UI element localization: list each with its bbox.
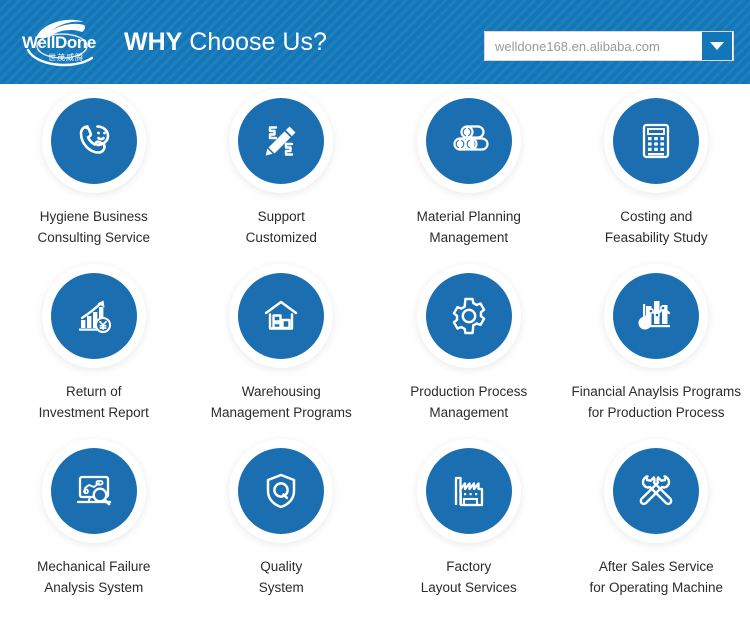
- calculator-icon: [632, 117, 680, 165]
- service-icon-badge: [426, 448, 512, 534]
- service-icon-badge: [426, 98, 512, 184]
- service-label: Costing and Feasability Study: [605, 206, 708, 248]
- service-item-hygiene-consulting[interactable]: Hygiene Business Consulting Service: [0, 90, 188, 265]
- service-label: Factory Layout Services: [421, 556, 517, 598]
- url-text[interactable]: welldone168.en.alibaba.com: [485, 39, 702, 54]
- page-title: WHY Choose Us?: [124, 30, 327, 55]
- service-item-roi-report[interactable]: Return of Investment Report: [0, 265, 188, 440]
- service-label: Quality System: [259, 556, 304, 598]
- page-title-why: WHY: [124, 28, 182, 56]
- service-icon-badge: [51, 448, 137, 534]
- service-icon-badge: [613, 448, 699, 534]
- stacked-pipes-icon: [445, 117, 493, 165]
- logo-wordmark: WellDone: [22, 34, 100, 51]
- url-dropdown-button[interactable]: [702, 32, 732, 60]
- financial-analysis-chart-icon: [632, 292, 680, 340]
- monitor-machine-search-icon: [70, 467, 118, 515]
- service-item-support-customized[interactable]: Support Customized: [188, 90, 376, 265]
- factory-icon: [445, 467, 493, 515]
- service-item-factory-layout[interactable]: Factory Layout Services: [375, 440, 563, 615]
- why-choose-us-banner: WellDone 世茂威腾 WHY Choose Us? welldone168…: [0, 0, 750, 624]
- service-icon-badge: [51, 273, 137, 359]
- service-item-financial-analysis[interactable]: Financial Anaylsis Programs for Producti…: [563, 265, 750, 440]
- services-grid: Hygiene Business Consulting Service S: [0, 84, 750, 615]
- growth-chart-yen-icon: [70, 292, 118, 340]
- service-item-material-planning[interactable]: Material Planning Management: [375, 90, 563, 265]
- service-label: Warehousing Management Programs: [211, 381, 352, 423]
- pencil-tools-icon: [257, 117, 305, 165]
- service-label: Support Customized: [246, 206, 317, 248]
- chevron-down-icon: [709, 40, 725, 52]
- service-icon-badge: [238, 273, 324, 359]
- warehouse-boxes-icon: [257, 292, 305, 340]
- service-icon-badge: [426, 273, 512, 359]
- url-field[interactable]: welldone168.en.alibaba.com: [484, 31, 734, 61]
- logo-chinese-name: 世茂威腾: [48, 54, 100, 62]
- service-icon-badge: [238, 448, 324, 534]
- page-header: WellDone 世茂威腾 WHY Choose Us? welldone168…: [0, 0, 750, 84]
- service-item-after-sales[interactable]: After Sales Service for Operating Machin…: [563, 440, 750, 615]
- service-item-production-process[interactable]: Production Process Management: [375, 265, 563, 440]
- service-label: Hygiene Business Consulting Service: [37, 206, 150, 248]
- service-icon-badge: [613, 98, 699, 184]
- gear-icon: [445, 292, 493, 340]
- service-item-warehousing[interactable]: Warehousing Management Programs: [188, 265, 376, 440]
- page-title-rest: Choose Us?: [182, 28, 327, 56]
- service-label: After Sales Service for Operating Machin…: [589, 556, 723, 598]
- phone-smiley-icon: [70, 117, 118, 165]
- service-item-costing-feasability[interactable]: Costing and Feasability Study: [563, 90, 750, 265]
- shield-q-icon: [257, 467, 305, 515]
- service-label: Mechanical Failure Analysis System: [37, 556, 150, 598]
- service-item-mechanical-failure[interactable]: Mechanical Failure Analysis System: [0, 440, 188, 615]
- service-icon-badge: [238, 98, 324, 184]
- service-label: Financial Anaylsis Programs for Producti…: [571, 381, 741, 423]
- brand-logo: WellDone 世茂威腾: [22, 14, 100, 70]
- service-label: Return of Investment Report: [39, 381, 149, 423]
- service-label: Production Process Management: [410, 381, 527, 423]
- service-label: Material Planning Management: [417, 206, 521, 248]
- wrench-screwdriver-icon: [632, 467, 680, 515]
- service-icon-badge: [613, 273, 699, 359]
- service-icon-badge: [51, 98, 137, 184]
- service-item-quality-system[interactable]: Quality System: [188, 440, 376, 615]
